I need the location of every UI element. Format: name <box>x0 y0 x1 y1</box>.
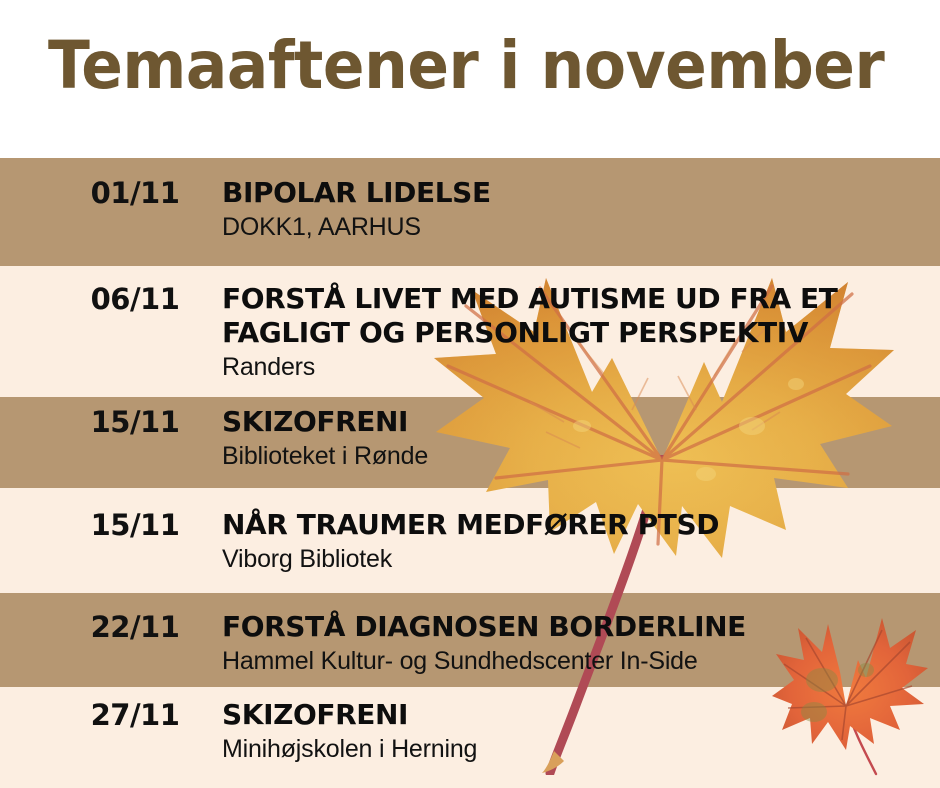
event-body: FORSTÅ LIVET MED AUTISME UD FRA ET FAGLI… <box>222 282 930 382</box>
event-venue: Viborg Bibliotek <box>222 544 930 574</box>
event-date: 01/11 <box>60 176 210 210</box>
event-date: 06/11 <box>60 282 210 316</box>
event-venue: Randers <box>222 352 930 382</box>
event-body: FORSTÅ DIAGNOSEN BORDERLINE Hammel Kultu… <box>222 610 930 676</box>
event-title: BIPOLAR LIDELSE <box>222 176 930 210</box>
event-date: 27/11 <box>60 698 210 732</box>
event-venue: Minihøjskolen i Herning <box>222 734 930 764</box>
event-title: SKIZOFRENI <box>222 698 930 732</box>
event-venue: Biblioteket i Rønde <box>222 441 930 471</box>
page-title: Temaaftener i november <box>48 30 884 102</box>
poster-canvas: 01/11 BIPOLAR LIDELSE DOKK1, AARHUS 06/1… <box>0 0 940 788</box>
event-title: SKIZOFRENI <box>222 405 930 439</box>
poster-header: Temaaftener i november <box>0 0 940 158</box>
event-title: NÅR TRAUMER MEDFØRER PTSD <box>222 508 930 542</box>
event-title: FORSTÅ LIVET MED AUTISME UD FRA ET FAGLI… <box>222 282 930 350</box>
event-title: FORSTÅ DIAGNOSEN BORDERLINE <box>222 610 930 644</box>
event-venue: Hammel Kultur- og Sundhedscenter In-Side <box>222 646 930 676</box>
event-body: NÅR TRAUMER MEDFØRER PTSD Viborg Bibliot… <box>222 508 930 574</box>
event-date: 15/11 <box>60 405 210 439</box>
event-date: 22/11 <box>60 610 210 644</box>
event-body: BIPOLAR LIDELSE DOKK1, AARHUS <box>222 176 930 242</box>
event-date: 15/11 <box>60 508 210 542</box>
event-body: SKIZOFRENI Minihøjskolen i Herning <box>222 698 930 764</box>
event-venue: DOKK1, AARHUS <box>222 212 930 242</box>
event-body: SKIZOFRENI Biblioteket i Rønde <box>222 405 930 471</box>
